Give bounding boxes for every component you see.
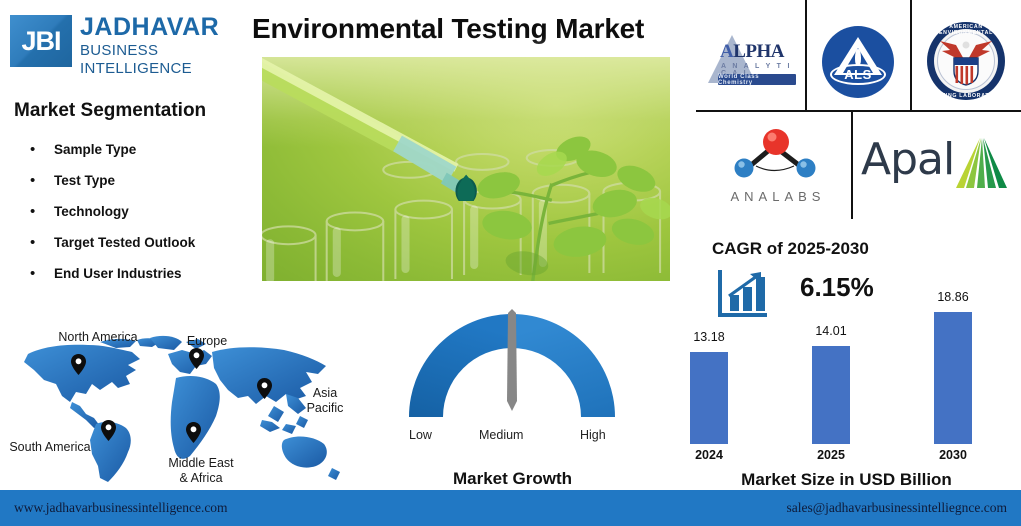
grid-divider-vertical [805,0,807,111]
seal-text-bottom: TESTING LABORATORY [927,93,1005,99]
market-size-bar-chart: 13.18 2024 14.01 2025 18.86 2030 Market … [672,300,1021,490]
logo-company-tagline: BUSINESS INTELLIGENCE [80,42,238,78]
bar-value-label: 14.01 [815,324,846,338]
seal-text-top: AMERICAN ENVIRONMENTAL [927,24,1005,36]
bar-chart-title: Market Size in USD Billion [672,470,1021,490]
segmentation-item-label: End User Industries [54,266,182,281]
segmentation-item-label: Technology [54,204,129,219]
list-item: • End User Industries [30,264,250,295]
bar-2030 [934,312,972,444]
als-wordmark: ALS [844,67,872,82]
apal-wordmark: Apal [861,134,954,186]
analabs-wordmark: ANALABS [726,189,831,204]
logo-monogram-text: JBI [21,26,60,57]
bar-group-2030: 18.86 [934,312,972,444]
segmentation-list: • Sample Type • Test Type • Technology •… [30,140,250,295]
cagr-value: 6.15% [800,272,874,303]
regional-coverage-map: North America Europe South America Middl… [0,312,365,492]
shield-icon [952,56,980,86]
map-label-asia-pacific: Asia Pacific [296,386,354,416]
alpha-word: LPHA [733,41,784,62]
alpha-tagline-bar: World Class Chemistry [718,74,796,85]
map-pin-europe[interactable] [189,348,204,369]
alpha-initial: A [720,41,733,62]
segmentation-item-label: Target Tested Outlook [54,235,195,250]
map-label-middle-east-africa: Middle East & Africa [152,456,250,486]
company-logo: JBI JADHAVAR BUSINESS INTELLIGENCE [8,10,238,70]
grid-divider-vertical [910,0,912,111]
bar-value-label: 13.18 [693,330,724,344]
gauge-label-high: High [580,428,606,442]
gauge-label-low: Low [409,428,432,442]
segmentation-item-label: Sample Type [54,142,136,157]
bar-value-label: 18.86 [937,290,968,304]
list-item: • Test Type [30,171,250,202]
map-label-south-america: South America [4,440,96,455]
fan-rays-icon [951,138,1009,188]
footer-website-link[interactable]: www.jadhavarbusinessintelligence.com [14,500,228,516]
partner-logo-aetl: AMERICAN ENVIRONMENTAL TESTING LABORATOR… [914,15,1018,107]
infographic-canvas: JBI JADHAVAR BUSINESS INTELLIGENCE Envir… [0,0,1021,526]
segmentation-item-label: Test Type [54,173,115,188]
footer-bar: www.jadhavarbusinessintelligence.com sal… [0,490,1021,526]
bar-category-label: 2025 [817,448,845,462]
partner-logo-alpha-analytical: ALPHA A N A L Y T I C A L World Class Ch… [700,18,804,104]
hero-image [262,57,670,281]
als-oval-badge: ALS [830,64,886,85]
bar-group-2025: 14.01 [812,346,850,444]
gauge-label-medium: Medium [479,428,523,442]
grid-divider-horizontal [696,110,1021,112]
bullet-icon: • [30,233,54,253]
page-title: Environmental Testing Market [252,13,722,45]
bar-2024 [690,352,728,444]
cagr-heading: CAGR of 2025-2030 [712,239,869,259]
bullet-icon: • [30,202,54,222]
bar-category-label: 2030 [939,448,967,462]
logo-company-name: JADHAVAR [80,14,238,40]
map-pin-middle-east-africa[interactable] [186,422,201,443]
list-item: • Target Tested Outlook [30,233,250,264]
bullet-icon: • [30,140,54,160]
list-item: • Sample Type [30,140,250,171]
logo-wordmark: JADHAVAR BUSINESS INTELLIGENCE [80,14,238,78]
seedling-illustration [409,124,670,281]
partner-logo-als: ALS [808,18,908,106]
map-label-europe: Europe [176,334,238,349]
market-growth-gauge: Low Medium High Market Growth [400,300,625,490]
map-pin-south-america[interactable] [101,420,116,441]
map-pin-asia-pacific[interactable] [257,378,272,399]
alpha-wordmark: ALPHA [720,41,784,63]
map-label-north-america: North America [48,330,148,345]
partner-logo-analabs: ANALABS [718,118,838,214]
bar-group-2024: 13.18 [690,352,728,444]
alpha-tagline: World Class Chemistry [718,74,796,86]
gauge-title: Market Growth [400,469,625,489]
segmentation-heading: Market Segmentation [14,100,206,122]
bar-category-label: 2024 [695,448,723,462]
molecule-icon [726,126,831,184]
bullet-icon: • [30,171,54,191]
bullet-icon: • [30,264,54,284]
map-pin-north-america[interactable] [71,354,86,375]
logo-monogram-tile: JBI [10,15,72,67]
partner-logo-apal: Apal [856,122,1016,206]
partner-logo-grid: ALPHA A N A L Y T I C A L World Class Ch… [696,0,1021,219]
footer-email-link[interactable]: sales@jadhavarbusinessintelliegnce.com [787,500,1008,516]
gauge-dial [405,303,620,421]
list-item: • Technology [30,202,250,233]
bar-2025 [812,346,850,444]
grid-divider-vertical [851,112,853,219]
